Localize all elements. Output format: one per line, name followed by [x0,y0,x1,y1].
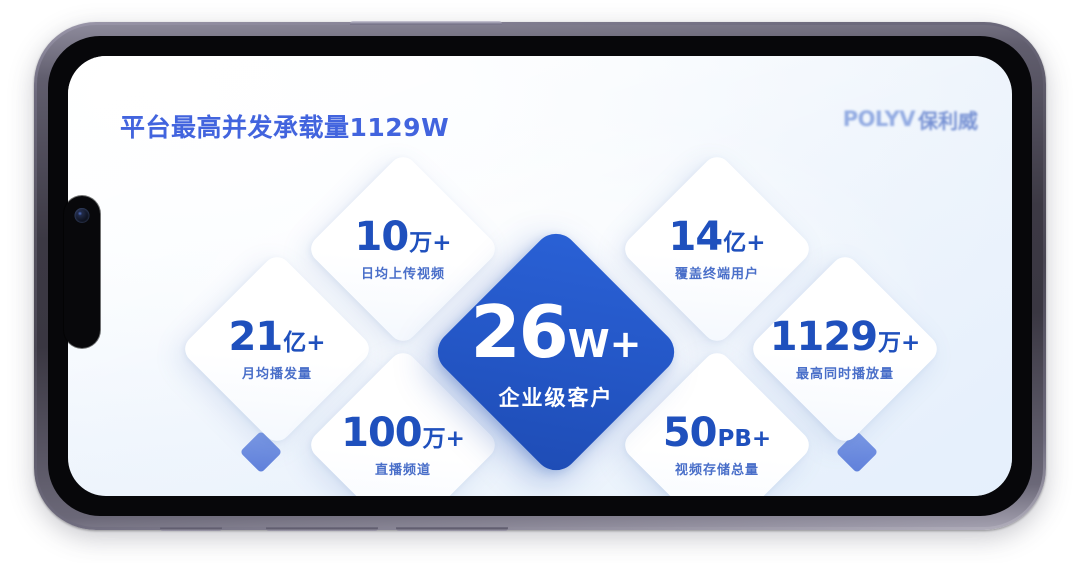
screenshot-root: 平台最高并发承载量1129W POLYV 保利威 [0,0,1080,563]
stat-caption: 最高同时播放量 [770,368,921,381]
stat-content: 50 PB+ 视频存储总量 [663,413,771,477]
stat-caption: 企业级客户 [471,388,642,409]
stat-number: 14 [669,217,723,257]
brand-logo: POLYV 保利威 [843,108,978,130]
stat-unit: 亿+ [723,232,765,255]
stat-content: 26 W+ 企业级客户 [471,296,642,409]
stat-card-monthly-playback[interactable]: 21 亿+ 月均播发量 [208,280,346,418]
brand-logo-chinese: 保利威 [918,105,978,134]
phone-frame-band: 平台最高并发承载量1129W POLYV 保利威 [37,25,1043,527]
stat-card-covered-users[interactable]: 14 亿+ 覆盖终端用户 [648,180,786,318]
front-camera-icon [75,208,90,223]
stat-content: 1129 万+ 最高同时播放量 [770,317,921,381]
stat-unit: W+ [568,325,642,363]
stat-number: 21 [229,317,283,357]
phone-bezel: 平台最高并发承载量1129W POLYV 保利威 [48,36,1032,516]
stat-caption: 日均上传视频 [355,268,452,281]
stat-caption: 直播频道 [341,464,465,477]
stat-content: 21 亿+ 月均播发量 [229,317,326,381]
stat-value: 1129 万+ [770,317,921,357]
stat-number: 50 [663,413,717,453]
stat-value: 14 亿+ [669,217,766,257]
stat-value: 26 W+ [471,296,642,368]
stat-unit: PB+ [718,428,772,451]
stat-card-storage-total[interactable]: 50 PB+ 视频存储总量 [648,376,786,496]
presentation-slide: 平台最高并发承载量1129W POLYV 保利威 [68,56,1012,496]
stat-number: 10 [355,217,409,257]
stat-card-daily-uploads[interactable]: 10 万+ 日均上传视频 [334,180,472,318]
stat-content: 10 万+ 日均上传视频 [355,217,452,281]
stat-number: 26 [471,296,567,368]
stat-card-peak-concurrent[interactable]: 1129 万+ 最高同时播放量 [776,280,914,418]
dynamic-island [64,196,100,348]
stat-caption: 视频存储总量 [663,464,771,477]
stat-content: 14 亿+ 覆盖终端用户 [669,217,766,281]
stat-caption: 覆盖终端用户 [669,268,766,281]
phone-screen[interactable]: 平台最高并发承载量1129W POLYV 保利威 [68,56,1012,496]
stat-card-live-channels[interactable]: 100 万+ 直播频道 [334,376,472,496]
stat-value: 50 PB+ [663,413,771,453]
brand-logo-latin: POLYV [843,107,915,131]
stat-unit: 万+ [878,332,920,355]
stat-value: 21 亿+ [229,317,326,357]
phone-device-frame: 平台最高并发承载量1129W POLYV 保利威 [34,22,1046,530]
stat-unit: 万+ [423,428,465,451]
stat-number: 1129 [770,317,877,357]
stat-value: 100 万+ [341,413,465,453]
stat-unit: 亿+ [283,332,325,355]
stat-card-enterprise-clients[interactable]: 26 W+ 企业级客户 [466,262,646,442]
stat-number: 100 [341,413,422,453]
stat-value: 10 万+ [355,217,452,257]
stat-content: 100 万+ 直播频道 [341,413,465,477]
stat-unit: 万+ [409,232,451,255]
page-title: 平台最高并发承载量1129W [120,108,449,144]
stat-caption: 月均播发量 [229,368,326,381]
